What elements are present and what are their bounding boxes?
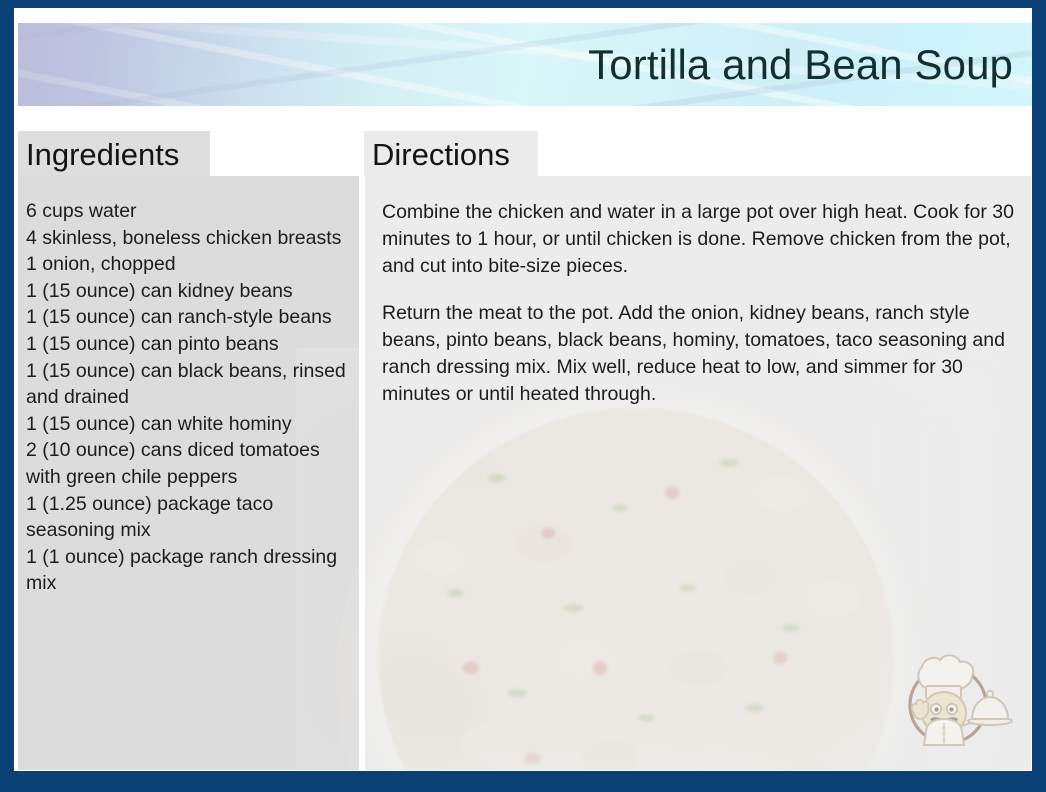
ingredients-list: 6 cups water4 skinless, boneless chicken… (26, 198, 355, 597)
direction-paragraph: Combine the chicken and water in a large… (382, 199, 1015, 280)
directions-body: Combine the chicken and water in a large… (382, 199, 1015, 408)
directions-section-tab: Directions (364, 131, 538, 177)
ingredient-item: 1 (15 ounce) can ranch-style beans (26, 304, 355, 331)
ingredient-item: 1 (15 ounce) can kidney beans (26, 278, 355, 305)
ingredients-panel: 6 cups water4 skinless, boneless chicken… (18, 176, 359, 770)
ingredient-item: 1 (15 ounce) can white hominy (26, 411, 355, 438)
directions-heading: Directions (364, 139, 510, 170)
direction-paragraph: Return the meat to the pot. Add the onio… (382, 300, 1015, 408)
ingredient-item: 6 cups water (26, 198, 355, 225)
ingredient-item: 1 (1 ounce) package ranch dressing mix (26, 544, 355, 597)
page-title: Tortilla and Bean Soup (588, 41, 1013, 89)
ingredient-item: 2 (10 ounce) cans diced tomatoes with gr… (26, 437, 355, 490)
recipe-card: Tortilla and Bean Soup Ingredients Direc… (0, 0, 1046, 792)
ingredient-item: 1 (15 ounce) can black beans, rinsed and… (26, 358, 355, 411)
title-banner: Tortilla and Bean Soup (18, 23, 1032, 106)
panel-divider (359, 176, 365, 770)
ingredient-item: 4 skinless, boneless chicken breasts (26, 225, 355, 252)
ingredients-section-tab: Ingredients (18, 131, 210, 177)
ingredient-item: 1 (1.25 ounce) package taco seasoning mi… (26, 491, 355, 544)
ingredients-heading: Ingredients (18, 139, 179, 170)
chef-with-cloche-logo (890, 631, 1014, 755)
ingredient-item: 1 onion, chopped (26, 251, 355, 278)
recipe-card-page: Tortilla and Bean Soup Ingredients Direc… (14, 8, 1032, 771)
ingredient-item: 1 (15 ounce) can pinto beans (26, 331, 355, 358)
